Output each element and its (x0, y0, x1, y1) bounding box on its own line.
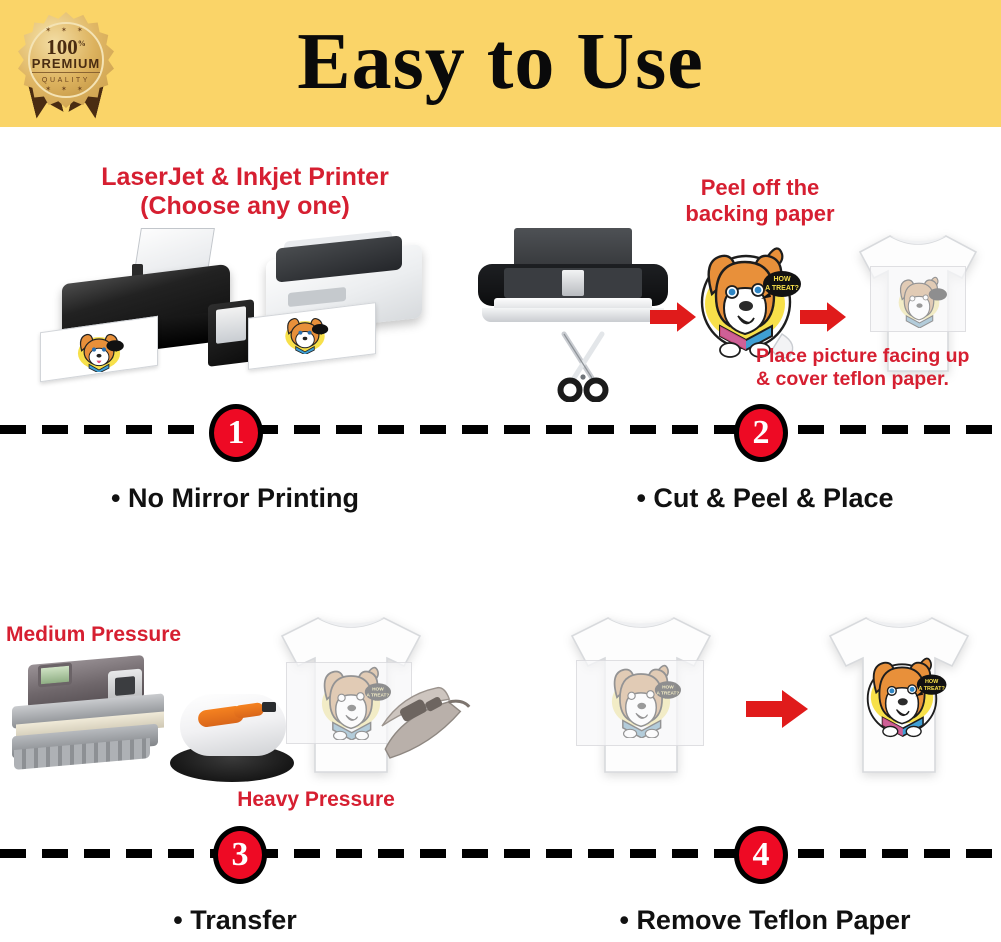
page-title: Easy to Use (0, 8, 1001, 116)
svg-text:HOW: HOW (925, 679, 939, 685)
step-badge-2: 2 (734, 404, 788, 462)
step1-heading-line1: LaserJet & Inkjet Printer (30, 163, 460, 192)
ink-tank-window (216, 306, 246, 344)
svg-text:A TREAT?: A TREAT? (765, 285, 799, 292)
step-badge-4: 4 (734, 826, 788, 884)
svg-text:HOW: HOW (773, 276, 791, 283)
premium-quality-badge: ✶ ✶ ✶ 100% PREMIUM QUALITY ✶ ✶ ✶ (12, 8, 120, 120)
inkjet-printer (40, 228, 260, 378)
step-badge-1: 1 (209, 404, 263, 462)
step-label-4: • Remove Teflon Paper (530, 905, 1000, 936)
clothes-iron (372, 676, 476, 772)
step-label-3: • Transfer (0, 905, 470, 936)
badge-disc: ✶ ✶ ✶ 100% PREMIUM QUALITY ✶ ✶ ✶ (28, 22, 104, 98)
scissors-icon (548, 330, 618, 402)
printed-dog-artwork (276, 316, 334, 354)
printed-dog-artwork (68, 332, 130, 372)
step3-heading-heavy: Heavy Pressure (210, 788, 422, 812)
press-display (38, 663, 72, 688)
svg-text:A TREAT?: A TREAT? (918, 686, 945, 692)
cutting-plotter (478, 228, 668, 324)
badge-percent: 100% (46, 34, 86, 57)
step2-heading-line1: Peel off the (640, 175, 880, 201)
step3-heading-left-text: Medium Pressure (6, 623, 222, 647)
shirt-print-covered: HOW A TREAT? (598, 658, 684, 738)
badge-dots-bottom: ✶ ✶ ✶ (45, 86, 87, 93)
arrow-remove-teflon (746, 690, 808, 728)
header-banner: Easy to Use ✶ ✶ ✶ 100% PREMIUM QUALITY ✶… (0, 0, 1001, 127)
step2-caption-line2: & cover teflon paper. (756, 368, 1001, 391)
plotter-base (482, 308, 664, 322)
badge-dots-top: ✶ ✶ ✶ (45, 27, 87, 34)
step-label-1: • No Mirror Printing (0, 483, 470, 514)
laser-printer (248, 236, 438, 376)
step1-heading: LaserJet & Inkjet Printer (Choose any on… (30, 163, 460, 221)
svg-text:HOW: HOW (662, 685, 674, 691)
step2-heading: Peel off the backing paper (640, 175, 880, 226)
step-label-2: • Cut & Peel & Place (530, 483, 1000, 514)
arrow-shaft (650, 310, 679, 323)
step2-caption: Place picture facing up & cover teflon p… (756, 345, 1001, 390)
svg-text:A TREAT?: A TREAT? (657, 690, 680, 696)
step2-caption-line1: Place picture facing up (756, 345, 1001, 368)
step3-heading-medium: Medium Pressure (6, 623, 222, 647)
arrow-shaft (800, 310, 829, 323)
badge-premium-text: PREMIUM (32, 57, 100, 73)
shirt-print-finished: HOW A TREAT? (856, 650, 948, 738)
step-badge-3: 3 (213, 826, 267, 884)
plotter-carriage (562, 270, 584, 296)
shirt-print-step2 (888, 272, 950, 328)
divider-row2 (0, 849, 1001, 858)
press-control-screen (115, 676, 135, 696)
arrow-shaft (746, 701, 784, 718)
badge-percent-symbol: % (78, 39, 86, 48)
infographic-page: Easy to Use ✶ ✶ ✶ 100% PREMIUM QUALITY ✶… (0, 0, 1001, 942)
step1-heading-line2: (Choose any one) (30, 192, 460, 221)
arrow-head (782, 690, 808, 728)
press-blue-detail (108, 741, 142, 758)
badge-quality-text: QUALITY (42, 73, 90, 86)
step3-heading-right-text: Heavy Pressure (210, 788, 422, 812)
divider-row1 (0, 425, 1001, 434)
heat-press-machine (12, 660, 172, 780)
step2-heading-line2: backing paper (640, 201, 880, 227)
